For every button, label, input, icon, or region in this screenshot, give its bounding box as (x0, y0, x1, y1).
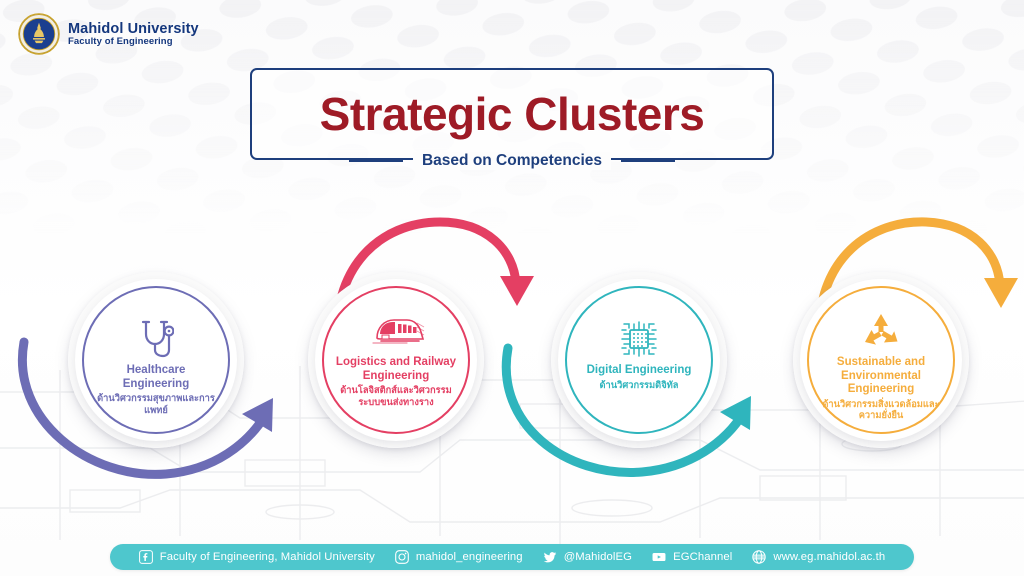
subtitle-rule-right (621, 160, 675, 162)
page-title: Strategic Clusters (320, 87, 705, 141)
cluster-group: Healthcare Engineering ด้านวิศวกรรมสุขภา… (0, 236, 1024, 486)
microchip-icon (617, 316, 661, 362)
cluster-title: Logistics and Railway Engineering (324, 356, 468, 383)
brand-title: Mahidol University (68, 21, 199, 37)
cluster-subtitle-th: ด้านวิศวกรรมสิ่งแวดล้อมและความยั่งยืน (809, 399, 953, 422)
subtitle-band: Based on Competencies (250, 146, 774, 176)
cluster-healthcare-engineering[interactable]: Healthcare Engineering ด้านวิศวกรรมสุขภา… (68, 272, 244, 448)
subtitle-rule-left (349, 160, 403, 162)
cluster-ring: Digital Engineering ด้านวิศวกรรมดิจิทัล (565, 286, 713, 434)
youtube-icon (652, 550, 666, 564)
footer-item-youtube[interactable]: EGChannel (652, 550, 732, 564)
brand-logo: Mahidol University Faculty of Engineerin… (18, 13, 199, 55)
footer-item-twitter[interactable]: @MahidolEG (543, 550, 632, 564)
page-subtitle: Based on Competencies (413, 152, 611, 170)
cluster-ring: Logistics and Railway Engineering ด้านโล… (322, 286, 470, 434)
twitter-icon (543, 550, 557, 564)
footer-label: mahidol_engineering (416, 551, 523, 563)
cluster-subtitle-th: ด้านวิศวกรรมสุขภาพและการแพทย์ (84, 393, 228, 416)
footer-item-facebook[interactable]: Faculty of Engineering, Mahidol Universi… (139, 550, 375, 564)
cluster-subtitle-th: ด้านวิศวกรรมดิจิทัล (591, 380, 686, 392)
footer-item-website[interactable]: www.eg.mahidol.ac.th (752, 550, 885, 564)
cluster-ring: Sustainable and Environmental Engineerin… (807, 286, 955, 434)
cluster-ring: Healthcare Engineering ด้านวิศวกรรมสุขภา… (82, 286, 230, 434)
recycle-icon (860, 308, 902, 354)
instagram-icon (395, 550, 409, 564)
train-icon (367, 308, 425, 354)
footer-social-bar: Faculty of Engineering, Mahidol Universi… (110, 544, 914, 570)
globe-icon (752, 550, 766, 564)
brand-subtitle: Faculty of Engineering (68, 37, 199, 48)
cluster-title: Digital Engineering (577, 364, 702, 378)
cluster-sustainable-and-environmental-engineering[interactable]: Sustainable and Environmental Engineerin… (793, 272, 969, 448)
footer-label: @MahidolEG (564, 551, 632, 563)
footer-label: www.eg.mahidol.ac.th (773, 551, 885, 563)
cluster-title: Healthcare Engineering (84, 364, 228, 391)
cluster-digital-engineering[interactable]: Digital Engineering ด้านวิศวกรรมดิจิทัล (551, 272, 727, 448)
cluster-logistics-and-railway-engineering[interactable]: Logistics and Railway Engineering ด้านโล… (308, 272, 484, 448)
slide-canvas: Mahidol University Faculty of Engineerin… (0, 0, 1024, 576)
footer-item-instagram[interactable]: mahidol_engineering (395, 550, 523, 564)
mahidol-seal-icon (18, 13, 60, 55)
cluster-title: Sustainable and Environmental Engineerin… (809, 356, 953, 397)
cluster-subtitle-th: ด้านโลจิสติกส์และวิศวกรรมระบบขนส่งทางราง (324, 385, 468, 408)
stethoscope-icon (138, 316, 174, 362)
facebook-icon (139, 550, 153, 564)
footer-label: Faculty of Engineering, Mahidol Universi… (160, 551, 375, 563)
footer-label: EGChannel (673, 551, 732, 563)
